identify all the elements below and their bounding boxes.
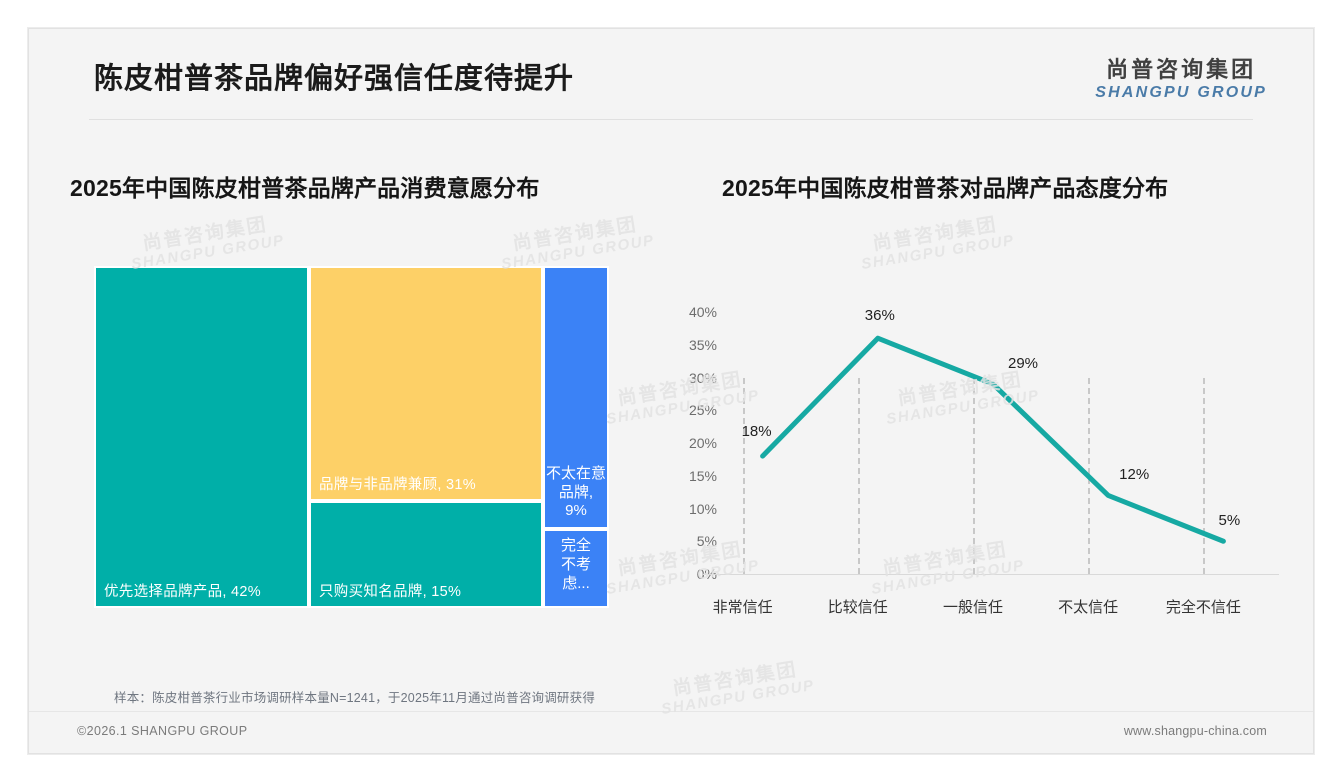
treemap-cell-label: 品牌与非品牌兼顾, 31% xyxy=(319,473,476,494)
watermark-cn: 尚普咨询集团 xyxy=(497,212,653,257)
slide-canvas: 陈皮柑普茶品牌偏好强信任度待提升 尚普咨询集团 SHANGPU GROUP 20… xyxy=(28,28,1314,754)
data-point-label: 5% xyxy=(1219,512,1241,529)
treemap-cell-label: 只购买知名品牌, 15% xyxy=(319,580,461,601)
right-chart-title: 2025年中国陈皮柑普茶对品牌产品态度分布 xyxy=(722,169,1168,203)
treemap-cell-label: 完全不考虑... xyxy=(545,537,607,593)
website-link[interactable]: www.shangpu-china.com xyxy=(1124,724,1267,738)
x-axis-tick-label: 一般信任 xyxy=(913,596,1033,617)
data-point-label: 12% xyxy=(1119,466,1149,483)
data-point-label: 29% xyxy=(1008,355,1038,372)
sample-note: 样本：陈皮柑普茶行业市场调研样本量N=1241，于2025年11月通过尚普咨询调… xyxy=(114,687,595,706)
treemap-cell-known-brand-only[interactable]: 只购买知名品牌, 15% xyxy=(309,501,543,608)
slide-header: 陈皮柑普茶品牌偏好强信任度待提升 尚普咨询集团 SHANGPU GROUP xyxy=(29,29,1313,119)
watermark-cn: 尚普咨询集团 xyxy=(127,212,283,257)
watermark: 尚普咨询集团 SHANGPU GROUP xyxy=(857,212,1016,274)
watermark: 尚普咨询集团 SHANGPU GROUP xyxy=(657,657,816,719)
line-series-path xyxy=(763,338,1224,541)
line-chart: 40%35%30%25%20%15%10%5%0% 18%36%29%12%5%… xyxy=(659,266,1279,608)
header-divider xyxy=(89,119,1253,120)
x-axis-tick-label: 比较信任 xyxy=(798,596,918,617)
treemap-cell-no-consideration[interactable]: 完全不考虑... xyxy=(543,529,609,608)
left-chart-title: 2025年中国陈皮柑普茶品牌产品消费意愿分布 xyxy=(70,169,540,203)
treemap-cell-label: 优先选择品牌产品, 42% xyxy=(104,580,261,601)
page-title: 陈皮柑普茶品牌偏好强信任度待提升 xyxy=(94,55,574,97)
watermark: 尚普咨询集团 SHANGPU GROUP xyxy=(497,212,656,274)
x-axis-tick-label: 完全不信任 xyxy=(1143,596,1263,617)
watermark-cn: 尚普咨询集团 xyxy=(657,657,813,702)
data-point-label: 36% xyxy=(865,307,895,324)
x-axis-tick-label: 非常信任 xyxy=(683,596,803,617)
watermark: 尚普咨询集团 SHANGPU GROUP xyxy=(127,212,286,274)
treemap-chart: 优先选择品牌产品, 42% 品牌与非品牌兼顾, 31% 只购买知名品牌, 15%… xyxy=(94,266,609,608)
logo-chinese-text: 尚普咨询集团 xyxy=(1095,59,1267,81)
treemap-cell-indifferent-brand[interactable]: 不太在意品牌,9% xyxy=(543,266,609,529)
treemap-cell-label: 不太在意品牌,9% xyxy=(545,465,607,521)
copyright-text: ©2026.1 SHANGPU GROUP xyxy=(77,724,247,738)
data-point-label: 18% xyxy=(742,423,772,440)
x-axis-tick-label: 不太信任 xyxy=(1028,596,1148,617)
brand-logo: 尚普咨询集团 SHANGPU GROUP xyxy=(1095,59,1267,101)
treemap-cell-mixed-brand[interactable]: 品牌与非品牌兼顾, 31% xyxy=(309,266,543,501)
logo-english-text: SHANGPU GROUP xyxy=(1095,85,1267,101)
treemap-cell-priority-brand[interactable]: 优先选择品牌产品, 42% xyxy=(94,266,309,608)
watermark-cn: 尚普咨询集团 xyxy=(857,212,1013,257)
slide-footer: ©2026.1 SHANGPU GROUP www.shangpu-china.… xyxy=(29,711,1313,754)
